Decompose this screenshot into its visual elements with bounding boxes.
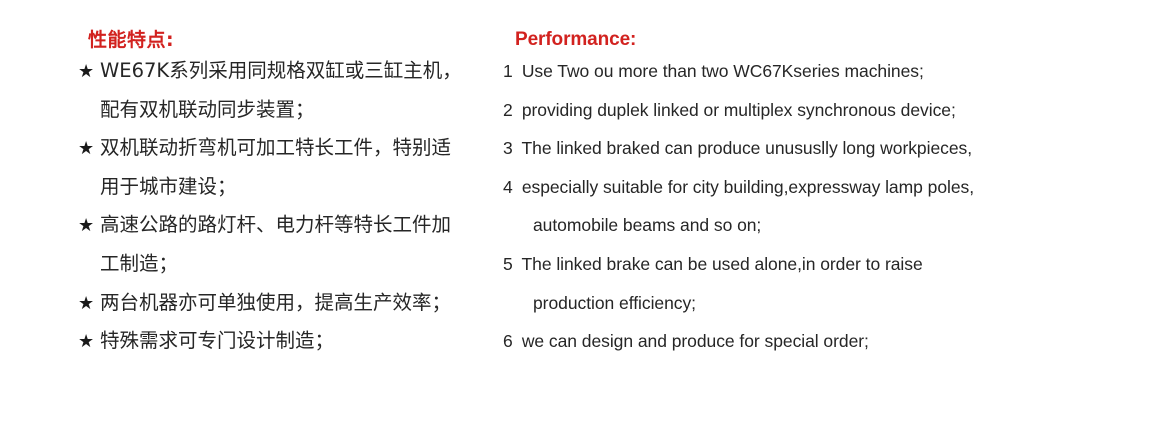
chinese-feature-line: ★特殊需求可专门设计制造；	[78, 322, 478, 361]
chinese-feature-text: WE67K系列采用同规格双缸或三缸主机，	[100, 59, 462, 82]
star-bullet-icon: ★	[78, 207, 100, 246]
english-feature-text: especially suitable for city building,ex…	[522, 177, 974, 197]
english-feature-line: production efficiency;	[503, 284, 1103, 323]
english-feature-text: Use Two ou more than two WC67Kseries mac…	[522, 61, 924, 81]
english-feature-number: 1	[503, 52, 517, 91]
english-feature-line: 5 The linked brake can be used alone,in …	[503, 245, 1103, 284]
english-feature-text: providing duplek linked or multiplex syn…	[522, 100, 956, 120]
english-feature-line: 1 Use Two ou more than two WC67Kseries m…	[503, 52, 1103, 91]
english-feature-text: production efficiency;	[533, 293, 696, 313]
english-feature-number: 6	[503, 322, 517, 361]
chinese-section-heading: 性能特点:	[88, 28, 478, 52]
chinese-feature-text: 双机联动折弯机可加工特长工件，特别适	[100, 136, 451, 159]
chinese-feature-line: ★WE67K系列采用同规格双缸或三缸主机，	[78, 52, 478, 91]
english-feature-text: The linked braked can produce unususlly …	[522, 138, 973, 158]
chinese-feature-line: ★高速公路的路灯杆、电力杆等特长工件加	[78, 206, 478, 245]
english-feature-number: 5	[503, 245, 517, 284]
star-bullet-icon: ★	[78, 53, 100, 92]
english-feature-text: we can design and produce for special or…	[522, 331, 869, 351]
english-feature-line: 4 especially suitable for city building,…	[503, 168, 1103, 207]
english-feature-number: 2	[503, 91, 517, 130]
chinese-feature-text: 高速公路的路灯杆、电力杆等特长工件加	[100, 213, 451, 236]
english-feature-text: automobile beams and so on;	[533, 215, 761, 235]
english-feature-number: 3	[503, 129, 517, 168]
english-feature-line: 3 The linked braked can produce unususll…	[503, 129, 1103, 168]
chinese-feature-text: 工制造；	[100, 252, 178, 275]
chinese-feature-line: 工制造；	[78, 245, 478, 284]
english-section-heading: Performance:	[515, 28, 1103, 52]
chinese-feature-line: 用于城市建设；	[78, 168, 478, 207]
english-feature-text: The linked brake can be used alone,in or…	[522, 254, 923, 274]
star-bullet-icon: ★	[78, 130, 100, 169]
english-feature-line: 6 we can design and produce for special …	[503, 322, 1103, 361]
chinese-feature-line: ★双机联动折弯机可加工特长工件，特别适	[78, 129, 478, 168]
chinese-performance-column: 性能特点: ★WE67K系列采用同规格双缸或三缸主机，配有双机联动同步装置；★双…	[78, 28, 478, 361]
star-bullet-icon: ★	[78, 285, 100, 324]
chinese-feature-list: ★WE67K系列采用同规格双缸或三缸主机，配有双机联动同步装置；★双机联动折弯机…	[78, 52, 478, 361]
chinese-feature-text: 两台机器亦可单独使用，提高生产效率；	[100, 291, 451, 314]
chinese-feature-text: 配有双机联动同步装置；	[100, 98, 315, 121]
chinese-feature-line: ★两台机器亦可单独使用，提高生产效率；	[78, 284, 478, 323]
chinese-feature-text: 特殊需求可专门设计制造；	[100, 329, 334, 352]
english-feature-line: automobile beams and so on;	[503, 206, 1103, 245]
english-feature-number: 4	[503, 168, 517, 207]
star-bullet-icon: ★	[78, 323, 100, 362]
chinese-feature-text: 用于城市建设；	[100, 175, 237, 198]
chinese-feature-line: 配有双机联动同步装置；	[78, 91, 478, 130]
page-root: 性能特点: ★WE67K系列采用同规格双缸或三缸主机，配有双机联动同步装置；★双…	[0, 0, 1164, 445]
english-feature-list: 1 Use Two ou more than two WC67Kseries m…	[503, 52, 1103, 361]
english-feature-line: 2 providing duplek linked or multiplex s…	[503, 91, 1103, 130]
english-performance-column: Performance: 1 Use Two ou more than two …	[503, 28, 1103, 361]
two-column-content: 性能特点: ★WE67K系列采用同规格双缸或三缸主机，配有双机联动同步装置；★双…	[0, 0, 1164, 445]
